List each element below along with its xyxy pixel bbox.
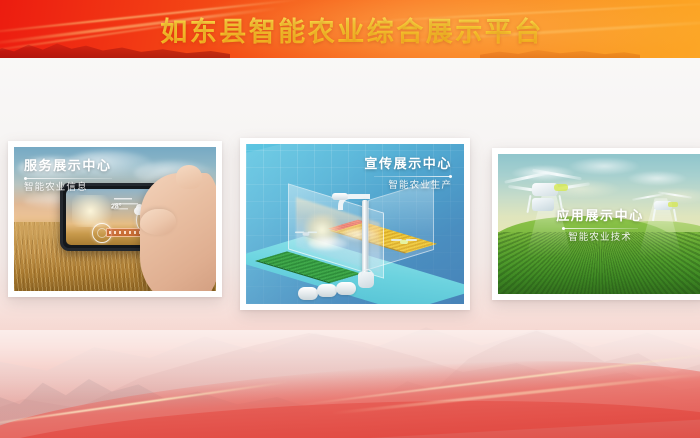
card-application-center[interactable]: 应用展示中心 智能农业技术 — [492, 148, 700, 300]
lamp-pole — [362, 200, 368, 274]
drone-accent — [554, 184, 568, 191]
card-promotion-subtitle: 智能农业生产 — [364, 180, 452, 192]
card-service-image: 28° 服务展示中心 智能农业信息 — [14, 147, 216, 291]
hay-roll — [336, 282, 356, 295]
hay-roll — [317, 284, 337, 297]
card-service-center[interactable]: 28° 服务展示中心 智能农业信息 — [8, 141, 222, 297]
card-service-divider — [24, 178, 112, 179]
page-stage: 如东县智能农业综合展示平台 28° — [0, 0, 700, 438]
lamp-head — [332, 193, 348, 200]
card-application-title: 应用展示中心 — [498, 208, 700, 224]
drone-rotor — [308, 231, 317, 233]
card-promotion-title: 宣传展示中心 — [364, 156, 452, 172]
water-bucket — [358, 272, 374, 288]
temperature-unit: ° — [119, 204, 122, 211]
drone-accent — [668, 202, 678, 207]
finger-graphic — [176, 165, 202, 189]
card-application-divider — [562, 228, 638, 229]
thumb-graphic — [140, 209, 176, 235]
card-application-text-block: 应用展示中心 智能农业技术 — [498, 208, 700, 244]
card-service-text-block: 服务展示中心 智能农业信息 — [24, 158, 112, 194]
temperature-value: 28 — [111, 204, 119, 211]
card-application-subtitle: 智能农业技术 — [498, 232, 700, 244]
hay-rolls-group — [298, 282, 360, 300]
card-application-image: 应用展示中心 智能农业技术 — [498, 154, 700, 294]
card-service-title: 服务展示中心 — [24, 158, 112, 174]
drone-icon — [392, 238, 416, 246]
drone-rotor — [632, 193, 664, 201]
card-promotion-text-block: 宣传展示中心 智能农业生产 — [364, 156, 452, 192]
hay-roll — [298, 287, 318, 300]
card-service-subtitle: 智能农业信息 — [24, 182, 112, 194]
card-promotion-image: 宣传展示中心 智能农业生产 — [246, 144, 464, 304]
header-banner: 如东县智能农业综合展示平台 — [0, 0, 700, 58]
drone-icon — [296, 231, 316, 238]
temperature-readout: 28° — [111, 202, 122, 217]
drone-rotor — [406, 239, 417, 241]
card-promotion-divider — [374, 176, 452, 177]
card-promotion-center[interactable]: 宣传展示中心 智能农业生产 — [240, 138, 470, 310]
page-title: 如东县智能农业综合展示平台 — [0, 0, 700, 58]
